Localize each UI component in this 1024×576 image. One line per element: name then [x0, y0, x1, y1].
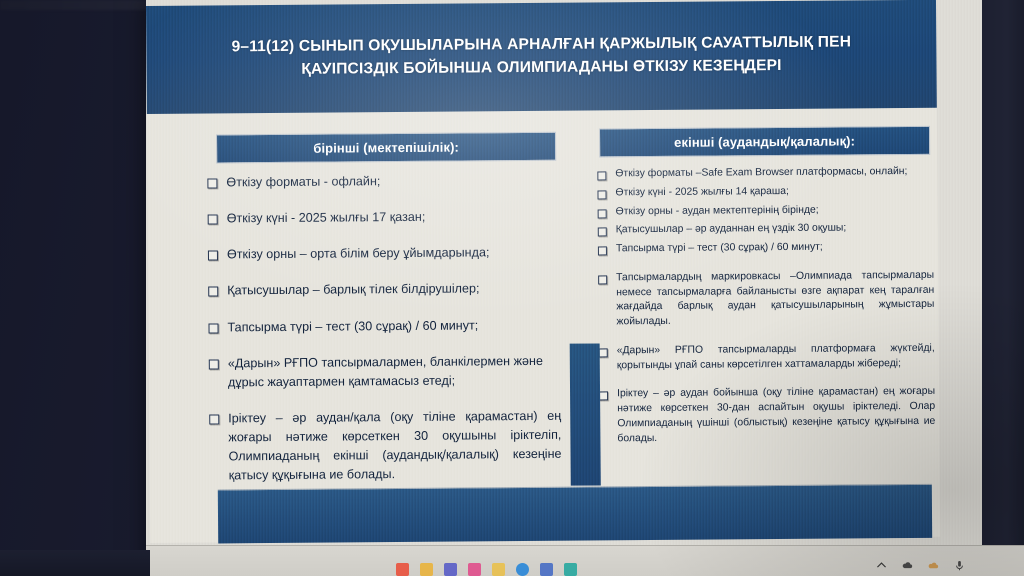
- checkbox-bullet-icon: [209, 414, 219, 424]
- app-icon-teal[interactable]: [564, 563, 577, 576]
- list-item-text: Іріктеу – әр аудан/қала (оқу тіліне қара…: [228, 407, 562, 486]
- list-item: Қатысушылар – барлық тілек білдірушілер;: [208, 279, 560, 301]
- list-item: Іріктеу – әр аудан бойынша (оқу тіліне қ…: [599, 385, 935, 447]
- list-item-text: Қатысушылар – әр ауданнан ең үздік 30 оқ…: [616, 221, 934, 238]
- column-divider: [570, 343, 601, 485]
- chevron-up-icon[interactable]: [875, 559, 888, 572]
- checkbox-bullet-icon: [597, 190, 606, 199]
- windows-taskbar[interactable]: [146, 545, 1024, 576]
- taskbar-pinned-apps[interactable]: [396, 560, 577, 576]
- list-item-text: Өткізу орны - аудан мектептерінің бірінд…: [616, 202, 934, 219]
- slide-footer-band: [218, 484, 932, 544]
- list-item-text: «Дарын» РҒПО тапсырмаларды платформаға ж…: [617, 342, 935, 374]
- app-icon-colorful[interactable]: [396, 563, 409, 576]
- checkbox-bullet-icon: [208, 323, 218, 333]
- checkbox-bullet-icon: [598, 246, 607, 255]
- list-item-text: Өткізу күні - 2025 жылғы 17 қазан;: [227, 207, 560, 229]
- list-item: Өткізу форматы –Safe Exam Browser платфо…: [597, 165, 933, 182]
- list-item: «Дарын» РҒПО тапсырмаларды платформаға ж…: [599, 342, 935, 374]
- checkbox-bullet-icon: [598, 209, 607, 218]
- column-header-stage-two-label: екінші (аудандық/қалалық):: [674, 133, 855, 149]
- app-icon-store[interactable]: [540, 563, 553, 576]
- list-item: Іріктеу – әр аудан/қала (оқу тіліне қара…: [209, 407, 562, 486]
- list-item: Өткізу орны – орта білім беру ұйымдарынд…: [208, 243, 560, 265]
- column-header-stage-one: бірінші (мектепішілік):: [216, 132, 556, 164]
- checkbox-bullet-icon: [599, 392, 608, 401]
- column-header-stage-one-label: бірінші (мектепішілік):: [313, 140, 459, 156]
- list-item-text: Тапсырма түрі – тест (30 сұрақ) / 60 мин…: [616, 240, 934, 257]
- column-header-stage-two: екінші (аудандық/қалалық):: [599, 126, 930, 158]
- checkbox-bullet-icon: [209, 359, 219, 369]
- list-item: Тапсырмалардың маркировкасы –Олимпиада т…: [598, 269, 934, 331]
- list-item: Өткізу күні - 2025 жылғы 17 қазан;: [208, 207, 560, 229]
- list-item-text: Қатысушылар – барлық тілек білдірушілер;: [227, 279, 560, 301]
- checkbox-bullet-icon: [208, 251, 218, 261]
- list-item: Өткізу форматы - офлайн;: [207, 171, 559, 193]
- stage-one-bullet-list: Өткізу форматы - офлайн; Өткізу күні - 2…: [207, 171, 562, 503]
- list-item-text: Тапсырма түрі – тест (30 сұрақ) / 60 мин…: [227, 315, 560, 337]
- list-item: «Дарын» РҒПО тапсырмалармен, бланкілерме…: [209, 351, 561, 392]
- list-item-text: Өткізу форматы –Safe Exam Browser платфо…: [615, 165, 933, 182]
- desk-foreground: [0, 550, 150, 576]
- stage-two-bullet-list: Өткізу форматы –Safe Exam Browser платфо…: [597, 165, 935, 451]
- list-item: Тапсырма түрі – тест (30 сұрақ) / 60 мин…: [598, 240, 934, 257]
- list-item: Тапсырма түрі – тест (30 сұрақ) / 60 мин…: [208, 315, 560, 337]
- checkbox-bullet-icon: [208, 287, 218, 297]
- list-item-text: Өткізу форматы - офлайн;: [226, 171, 559, 193]
- presentation-slide: 9–11(12) СЫНЫП ОҚУШЫЛАРЫНА АРНАЛҒАН ҚАРЖ…: [146, 0, 940, 543]
- list-item: Өткізу күні - 2025 жылғы 14 қараша;: [597, 184, 933, 201]
- list-item-text: «Дарын» РҒПО тапсырмалармен, бланкілерме…: [228, 351, 561, 392]
- slide-title-bar: 9–11(12) СЫНЫП ОҚУШЫЛАРЫНА АРНАЛҒАН ҚАРЖ…: [146, 0, 937, 114]
- onedrive-icon[interactable]: [927, 559, 940, 572]
- system-tray[interactable]: [875, 559, 966, 572]
- list-item: Өткізу орны - аудан мектептерінің бірінд…: [598, 202, 934, 219]
- list-item-text: Өткізу орны – орта білім беру ұйымдарынд…: [227, 243, 560, 265]
- list-item-text: Өткізу күні - 2025 жылғы 14 қараша;: [615, 184, 933, 201]
- checkbox-bullet-icon: [598, 228, 607, 237]
- app-icon-folder[interactable]: [492, 563, 505, 576]
- screen-right-bezel: [982, 0, 1024, 548]
- list-item-text: Іріктеу – әр аудан бойынша (оқу тіліне қ…: [617, 385, 935, 447]
- list-item-text: Тапсырмалардың маркировкасы –Олимпиада т…: [616, 269, 934, 331]
- checkbox-bullet-icon: [598, 275, 607, 284]
- list-item: Қатысушылар – әр ауданнан ең үздік 30 оқ…: [598, 221, 934, 238]
- app-icon-yellow[interactable]: [420, 563, 433, 576]
- page-title: 9–11(12) СЫНЫП ОҚУШЫЛАРЫНА АРНАЛҒАН ҚАРЖ…: [181, 31, 901, 82]
- checkbox-bullet-icon: [208, 215, 218, 225]
- app-icon-edge[interactable]: [516, 563, 529, 576]
- microphone-icon[interactable]: [953, 559, 966, 572]
- app-icon-teams[interactable]: [444, 563, 457, 576]
- checkbox-bullet-icon: [207, 178, 217, 188]
- app-icon-photos[interactable]: [468, 563, 481, 576]
- cloud-icon[interactable]: [901, 559, 914, 572]
- checkbox-bullet-icon: [597, 171, 606, 180]
- checkbox-bullet-icon: [599, 348, 608, 357]
- projection-screen: 9–11(12) СЫНЫП ОҚУШЫЛАРЫНА АРНАЛҒАН ҚАРЖ…: [146, 0, 1024, 576]
